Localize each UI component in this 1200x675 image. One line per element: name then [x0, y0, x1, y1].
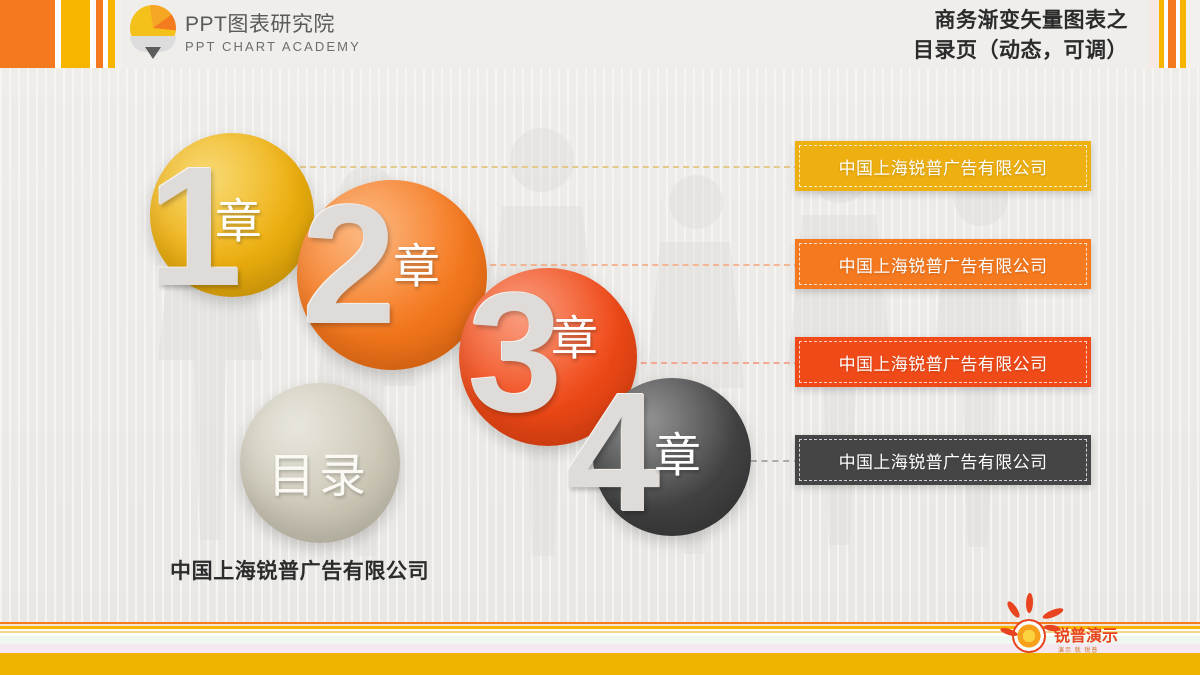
location-pin-pie-chart-icon — [130, 5, 176, 61]
footnote-text: 中国上海锐普广告有限公司 — [170, 555, 429, 585]
footer-brand-subtext: 演示 就 锐普 — [1058, 645, 1098, 654]
chapter-suffix-3: 章 — [551, 315, 598, 362]
slide-footer: 锐普演示 演示 就 锐普 — [0, 605, 1200, 675]
header-left-stripe — [108, 0, 115, 68]
brand-name-cn: PPT图表研究院 — [185, 14, 361, 35]
connector-line-1 — [300, 166, 800, 168]
chapter-suffix-4: 章 — [654, 432, 701, 479]
slide-header: PPT图表研究院 PPT CHART ACADEMY 商务渐变矢量图表之 目录页… — [0, 0, 1200, 68]
deck-title-line-1: 商务渐变矢量图表之 — [808, 6, 1128, 36]
chapter-label-bar-1[interactable]: 中国上海锐普广告有限公司 — [795, 141, 1091, 191]
chapter-label-text-2: 中国上海锐普广告有限公司 — [839, 252, 1048, 277]
chapter-suffix-1: 章 — [215, 198, 262, 245]
chapter-label-bar-4[interactable]: 中国上海锐普广告有限公司 — [795, 435, 1091, 485]
chapter-label-text-3: 中国上海锐普广告有限公司 — [839, 350, 1048, 375]
chapter-number-3: 3 — [468, 268, 563, 438]
chapter-label-text-4: 中国上海锐普广告有限公司 — [839, 448, 1048, 473]
deck-title-line-2: 目录页（动态，可调） — [808, 36, 1128, 66]
footer-stripe — [0, 653, 1200, 675]
header-right-stripe — [1186, 0, 1200, 68]
chapter-label-bar-3[interactable]: 中国上海锐普广告有限公司 — [795, 337, 1091, 387]
brand-logo[interactable]: PPT图表研究院 PPT CHART ACADEMY — [130, 5, 361, 61]
header-left-stripe — [0, 0, 52, 68]
footer-brand-text: 锐普演示 — [1054, 629, 1118, 645]
header-left-stripe — [96, 0, 103, 68]
sunburst-icon[interactable]: 锐普演示 演示 就 锐普 — [1004, 607, 1122, 653]
chapter-label-bar-2[interactable]: 中国上海锐普广告有限公司 — [795, 239, 1091, 289]
header-left-stripe — [61, 0, 87, 68]
header-right-stripe — [1168, 0, 1176, 68]
header-left-stripes — [0, 0, 121, 68]
chapter-number-4: 4 — [566, 368, 661, 538]
chapter-label-text-1: 中国上海锐普广告有限公司 — [839, 154, 1048, 179]
header-right-stripe — [1149, 0, 1159, 68]
catalog-label: 目录 — [268, 437, 370, 506]
chapter-number-2: 2 — [302, 180, 397, 350]
header-left-stripe — [115, 0, 121, 68]
chapter-suffix-2: 章 — [393, 243, 440, 290]
brand-name-en: PPT CHART ACADEMY — [185, 40, 361, 53]
header-right-stripes — [1149, 0, 1200, 68]
deck-title: 商务渐变矢量图表之 目录页（动态，可调） — [808, 6, 1128, 66]
slide-canvas: PPT图表研究院 PPT CHART ACADEMY 商务渐变矢量图表之 目录页… — [0, 0, 1200, 675]
